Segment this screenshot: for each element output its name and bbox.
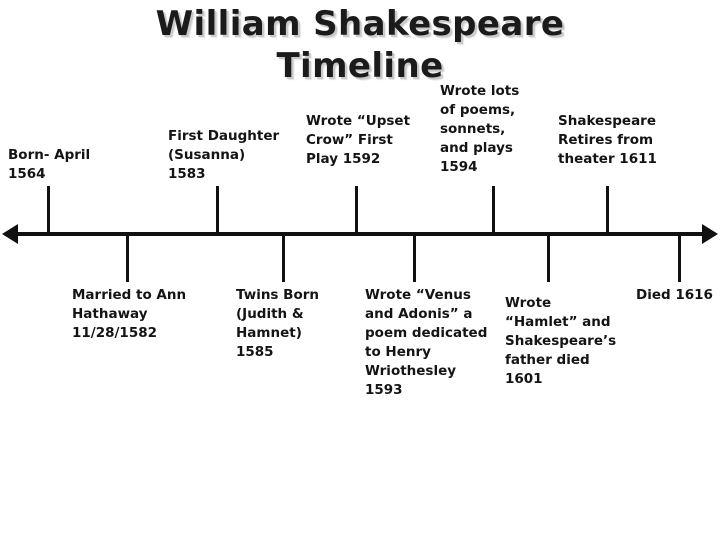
timeline-tick <box>678 234 681 282</box>
timeline-event-label: Twins Born (Judith & Hamnet) 1585 <box>236 286 319 362</box>
timeline-event-label: Wrote “Upset Crow” First Play 1592 <box>306 112 410 169</box>
timeline-event-label: First Daughter (Susanna) 1583 <box>168 127 279 184</box>
timeline-event-label: Shakespeare Retires from theater 1611 <box>558 112 657 169</box>
timeline-tick <box>355 186 358 234</box>
page-title: William Shakespeare Timeline <box>0 4 720 86</box>
timeline-tick <box>216 186 219 234</box>
timeline-event-label: Married to Ann Hathaway 11/28/1582 <box>72 286 186 343</box>
timeline-axis <box>10 232 710 236</box>
timeline-tick <box>413 234 416 282</box>
timeline-tick <box>126 234 129 282</box>
timeline-tick <box>47 186 50 234</box>
timeline-tick <box>282 234 285 282</box>
timeline-tick <box>547 234 550 282</box>
timeline-event-label: Born- April 1564 <box>8 146 90 184</box>
title-line-2: Timeline <box>0 46 720 86</box>
title-line-1: William Shakespeare <box>0 4 720 44</box>
timeline-tick <box>492 186 495 234</box>
timeline-event-label: Wrote lots of poems, sonnets, and plays … <box>440 82 519 177</box>
timeline-event-label: Died 1616 <box>636 286 713 305</box>
timeline-canvas: William Shakespeare Timeline Born- April… <box>0 0 720 539</box>
timeline-event-label: Wrote “Venus and Adonis” a poem dedicate… <box>365 286 487 400</box>
timeline-tick <box>606 186 609 234</box>
timeline-event-label: Wrote “Hamlet” and Shakespeare’s father … <box>505 294 616 389</box>
